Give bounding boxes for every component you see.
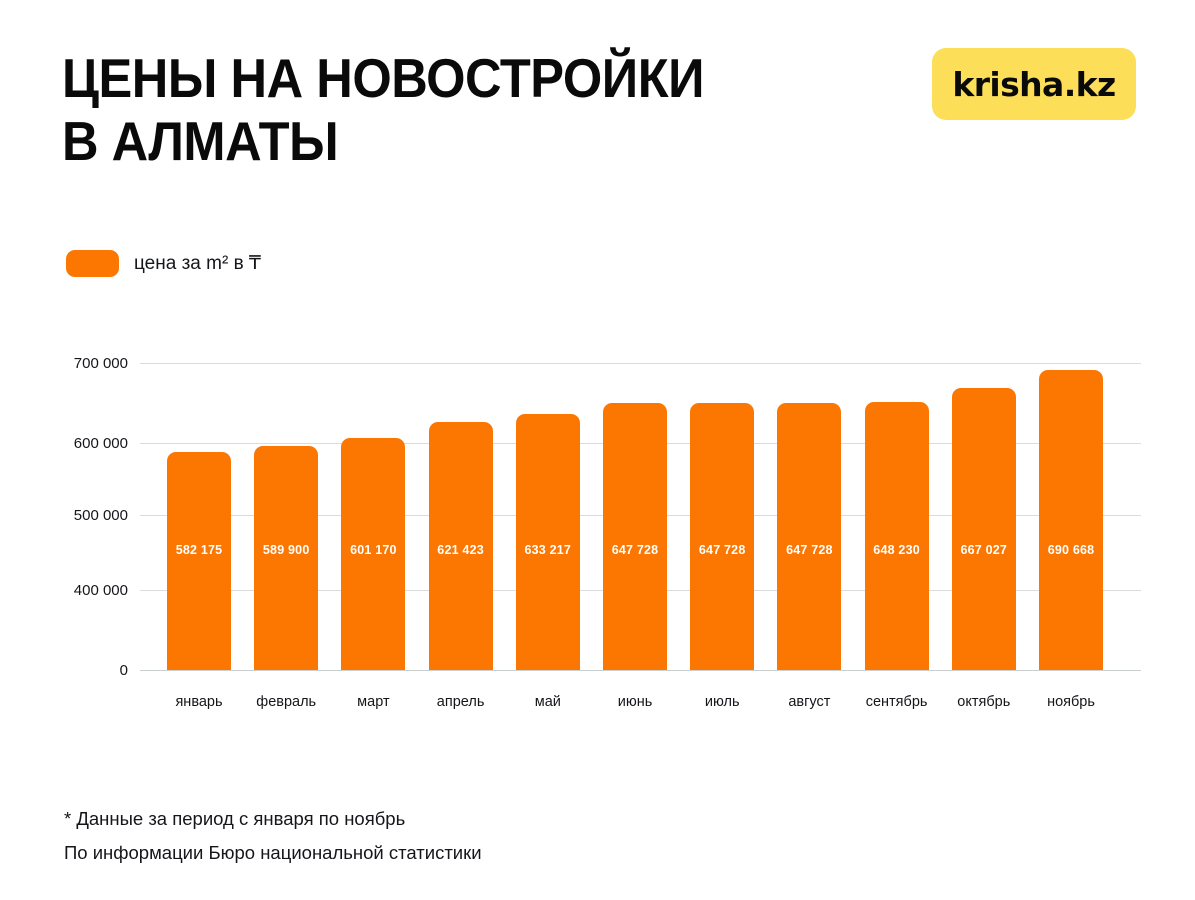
bar [254,446,318,670]
chart-legend: цена за m² в ₸ [66,250,261,277]
x-axis-tick-label: апрель [401,694,521,710]
x-axis-tick-label: октябрь [924,694,1044,710]
bar-value-label: 582 175 [159,543,239,557]
gridline [140,363,1141,364]
bar-value-label: 621 423 [421,543,501,557]
footnote-source: По информации Бюро национальной статисти… [64,836,482,870]
bar [167,452,231,670]
y-axis-tick-label: 600 000 [38,436,128,451]
x-axis-tick-label: январь [139,694,259,710]
x-axis-tick-label: февраль [226,694,346,710]
y-axis-tick-label: 0 [38,663,128,678]
x-axis-tick-label: август [749,694,869,710]
x-axis-tick-label: май [488,694,608,710]
bar [777,403,841,670]
bar [865,402,929,670]
bar-value-label: 633 217 [508,543,588,557]
y-axis-tick-label: 500 000 [38,508,128,523]
bar [690,403,754,670]
bar-value-label: 690 668 [1031,543,1111,557]
y-axis-tick-label: 400 000 [38,583,128,598]
bar-value-label: 601 170 [333,543,413,557]
gridline [140,670,1141,671]
bar [429,422,493,670]
gridline [140,590,1141,591]
bar-value-label: 647 728 [595,543,675,557]
gridline [140,515,1141,516]
x-axis-tick-label: июль [662,694,782,710]
bar-value-label: 589 900 [246,543,326,557]
bar [516,414,580,670]
y-axis-tick-label: 700 000 [38,356,128,371]
x-axis-tick-label: март [313,694,433,710]
logo-text: krisha.kz [952,65,1115,104]
bar [603,403,667,670]
bar-value-label: 667 027 [944,543,1024,557]
header: ЦЕНЫ НА НОВОСТРОЙКИ В АЛМАТЫ krisha.kz [0,0,1195,200]
x-axis-tick-label: ноябрь [1011,694,1131,710]
krisha-logo: krisha.kz [932,48,1136,120]
footnote-period: * Данные за период с января по ноябрь [64,802,482,836]
bar-value-label: 647 728 [769,543,849,557]
bar-value-label: 647 728 [682,543,762,557]
bar [1039,370,1103,670]
x-axis-tick-label: июнь [575,694,695,710]
x-axis-tick-label: сентябрь [837,694,957,710]
gridline [140,443,1141,444]
bar-value-label: 648 230 [857,543,937,557]
legend-swatch-icon [66,250,119,277]
bar [341,438,405,670]
legend-label: цена за m² в ₸ [134,252,261,275]
footnotes: * Данные за период с января по ноябрь По… [64,802,482,870]
bar [952,388,1016,670]
page-title: ЦЕНЫ НА НОВОСТРОЙКИ В АЛМАТЫ [62,47,798,173]
